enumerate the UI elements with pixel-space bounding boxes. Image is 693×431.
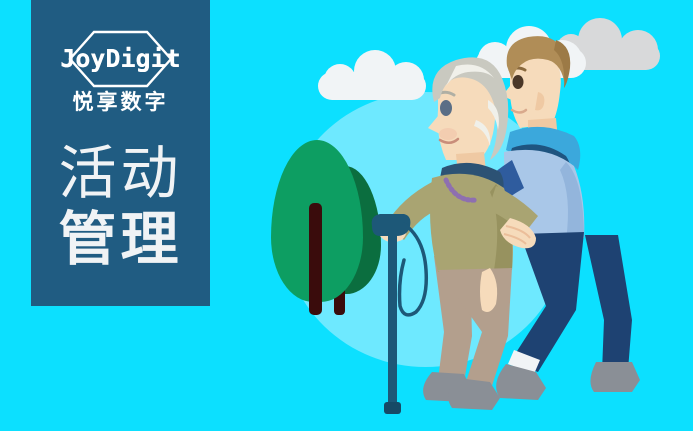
tree-front-trunk (309, 203, 322, 315)
walking-cane (372, 214, 427, 414)
logo-wordmark: JoyDigit (31, 44, 210, 74)
cane-shaft (388, 232, 397, 410)
page-title: 活动 管理 (31, 140, 210, 272)
elderly-woman-eye (440, 100, 452, 116)
young-man-near-leg (510, 232, 584, 372)
title-panel: JoyDigit 悦享数字 活动 管理 (31, 0, 210, 306)
logo-subtitle-cn: 悦享数字 (31, 86, 210, 116)
young-man-eye (513, 75, 524, 89)
people-illustration (360, 20, 680, 420)
elderly-woman-nose (428, 116, 440, 134)
young-man-far-shoe (590, 362, 640, 392)
illustration-canvas: JoyDigit 悦享数字 活动 管理 (0, 0, 693, 431)
page-title-line-1: 活动 (31, 140, 210, 206)
elderly-woman-cheek (439, 128, 457, 140)
young-man-far-leg (585, 235, 632, 372)
page-title-line-2: 管理 (31, 206, 210, 272)
cane-tip (384, 402, 401, 414)
